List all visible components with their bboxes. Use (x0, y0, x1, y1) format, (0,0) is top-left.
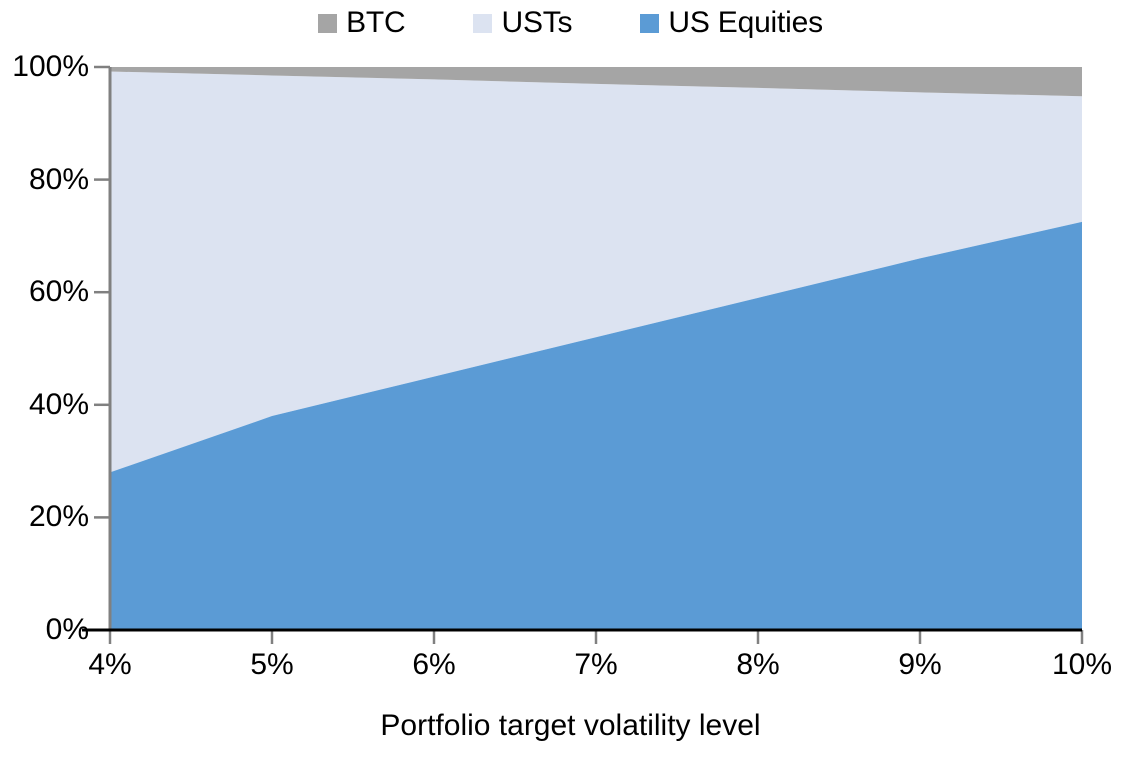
x-tick-label: 8% (736, 648, 779, 682)
x-tick-label: 10% (1052, 648, 1112, 682)
x-tick-label: 6% (412, 648, 455, 682)
x-axis-labels: 4%5%6%7%8%9%10% (0, 0, 1141, 763)
x-tick-label: 9% (898, 648, 941, 682)
x-axis-title: Portfolio target volatility level (0, 708, 1141, 744)
stacked-area-chart: BTC USTs US Equities 0%20% (0, 0, 1141, 763)
x-tick-label: 7% (574, 648, 617, 682)
x-tick-label: 4% (88, 648, 131, 682)
x-tick-label: 5% (250, 648, 293, 682)
